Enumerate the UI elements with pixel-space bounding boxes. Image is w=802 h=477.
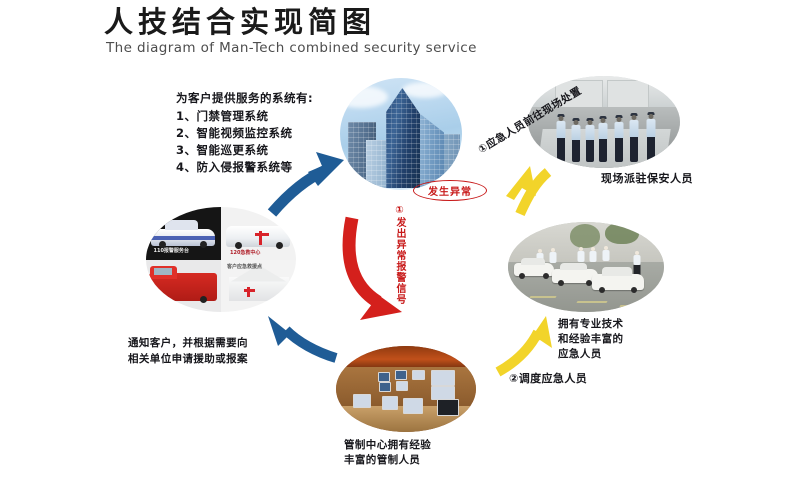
wall-display-large xyxy=(431,386,455,400)
alarm-signal-label: ①发出异常报警信号 xyxy=(392,205,407,305)
parking-line xyxy=(529,296,556,298)
patrol-car xyxy=(552,269,598,283)
notify-client-caption: 通知客户，并根据需要向 相关单位申请援助或报案 xyxy=(128,336,248,368)
police-caption: 110报警服务台 xyxy=(154,247,189,254)
arrow-notify-client xyxy=(268,316,336,358)
tree-shape xyxy=(605,222,639,244)
wall-monitor xyxy=(395,370,407,380)
arrow-dispatch-to-site xyxy=(506,166,548,214)
person-figure xyxy=(577,247,585,263)
fire-truck xyxy=(149,273,217,301)
collage-quadrant-fire: 119火警 xyxy=(146,260,221,313)
guard-figure xyxy=(628,115,640,162)
wall-monitor xyxy=(396,381,408,391)
wall-monitor xyxy=(378,372,390,382)
person-figure xyxy=(549,248,557,264)
guard-figure xyxy=(555,116,567,162)
abnormal-status-badge: 发生异常 xyxy=(413,180,487,201)
desk-monitor xyxy=(382,396,398,410)
guard-figure xyxy=(613,117,624,162)
officer-figure xyxy=(633,251,642,277)
guard-figure xyxy=(598,118,609,162)
wall-monitor xyxy=(379,382,391,392)
wall-monitor xyxy=(412,370,425,380)
background-building xyxy=(607,80,649,110)
emergency-vehicles-photo: 110报警服务台 120急救中心 119火警 客户应急救援点 xyxy=(146,207,296,312)
systems-list-item-2: 2、智能视频监控系统 xyxy=(176,125,293,141)
page-title: 人技结合实现简图 xyxy=(104,6,376,39)
systems-list-item-4: 4、防入侵报警系统等 xyxy=(176,159,293,175)
guard-figure xyxy=(645,114,657,162)
wall-display-large xyxy=(431,370,455,386)
cloud-shape xyxy=(340,86,388,108)
desk-monitor xyxy=(437,399,459,416)
patrol-car xyxy=(592,274,644,290)
systems-list-item-1: 1、门禁管理系统 xyxy=(176,108,269,124)
collage-quadrant-tent: 客户应急救援点 xyxy=(221,260,296,313)
desk-monitor xyxy=(403,398,423,414)
diagram-canvas: 人技结合实现简图 The diagram of Man-Tech combine… xyxy=(0,0,802,477)
collage-quadrant-police: 110报警服务台 xyxy=(146,207,221,260)
collage-quadrant-ambulance: 120急救中心 xyxy=(221,207,296,260)
systems-list-item-3: 3、智能巡更系统 xyxy=(176,142,269,158)
tree-shape xyxy=(570,224,600,248)
guards-photo xyxy=(528,76,680,168)
page-subtitle: The diagram of Man-Tech combined securit… xyxy=(106,40,477,56)
building-photo xyxy=(340,78,462,190)
ambulance-caption: 120急救中心 xyxy=(230,249,260,256)
person-figure xyxy=(589,247,597,263)
guard-figure xyxy=(584,120,595,162)
dispatch-staff-label: ②调度应急人员 xyxy=(509,370,587,386)
person-figure xyxy=(602,246,610,262)
ceiling xyxy=(336,346,476,368)
tent-caption: 客户应急救援点 xyxy=(227,263,262,270)
patrol-cars-photo xyxy=(508,222,664,312)
arrow-dispatch-staff xyxy=(498,316,552,372)
patrol-car xyxy=(514,263,554,276)
cloud-shape xyxy=(402,82,448,98)
parking-line xyxy=(620,305,651,307)
guard-figure xyxy=(571,120,582,162)
guards-caption: 现场派驻保安人员 xyxy=(601,170,693,186)
parking-line xyxy=(576,301,607,303)
tower-main xyxy=(386,88,420,188)
police-car xyxy=(151,229,216,246)
desk-monitor xyxy=(353,394,371,408)
systems-list-heading: 为客户提供服务的系统有: xyxy=(176,90,313,106)
patrol-cars-caption: 拥有专业技术 和经验丰富的 应急人员 xyxy=(558,317,623,363)
fire-caption: 119火警 xyxy=(154,303,174,310)
ambulance-vehicle xyxy=(226,226,291,247)
control-room-caption: 管制中心拥有经验 丰富的管制人员 xyxy=(344,438,431,468)
control-room-photo xyxy=(336,346,476,432)
